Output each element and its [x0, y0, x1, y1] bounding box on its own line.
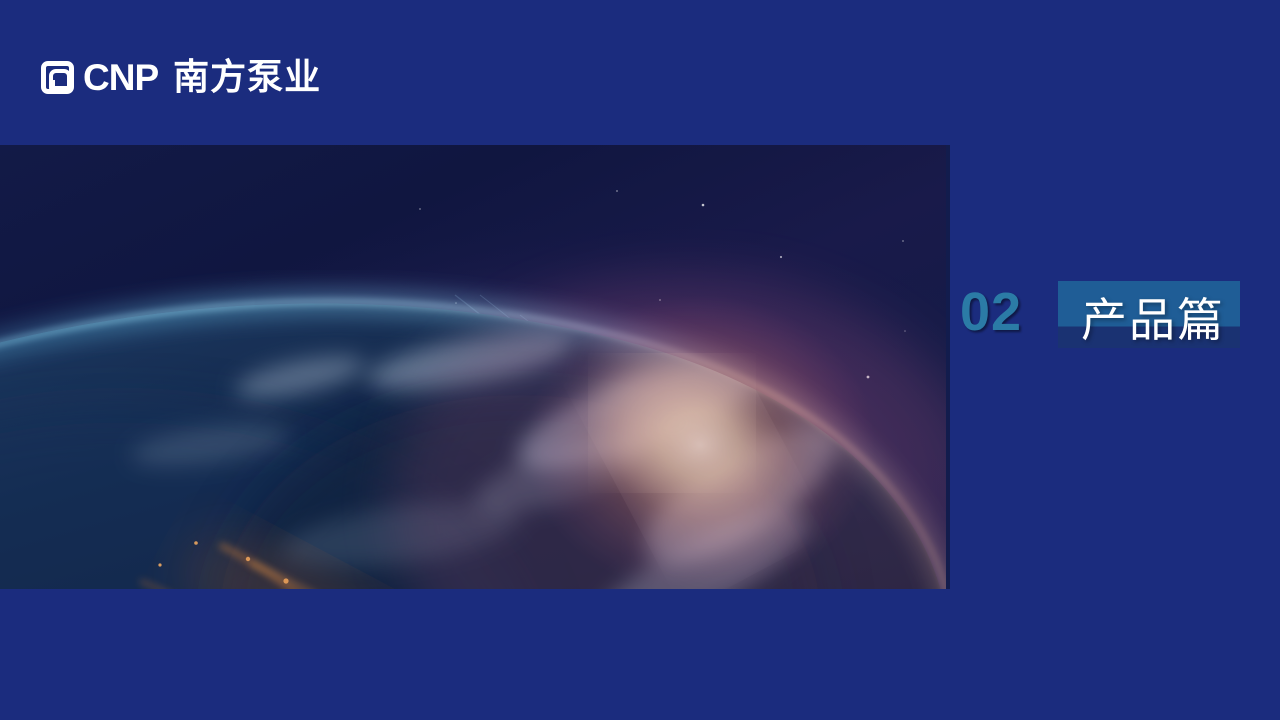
section-title: 产品篇	[1062, 281, 1244, 359]
slide-root: CNP 南方泵业	[0, 0, 1280, 720]
section-panel: 02 产品篇	[950, 145, 1280, 589]
cnp-square-p-icon	[41, 61, 74, 94]
earth-hero-image	[0, 145, 946, 589]
slide-header: CNP 南方泵业	[0, 0, 1280, 145]
earth-illustration	[0, 145, 946, 589]
slide-footer: 节能泵王 绿色中国	[0, 589, 1280, 720]
company-logo: CNP 南方泵业	[41, 56, 321, 98]
logo-chinese-text: 南方泵业	[173, 59, 321, 95]
section-number: 02	[960, 285, 1022, 339]
logo-latin-text: CNP	[83, 59, 158, 96]
